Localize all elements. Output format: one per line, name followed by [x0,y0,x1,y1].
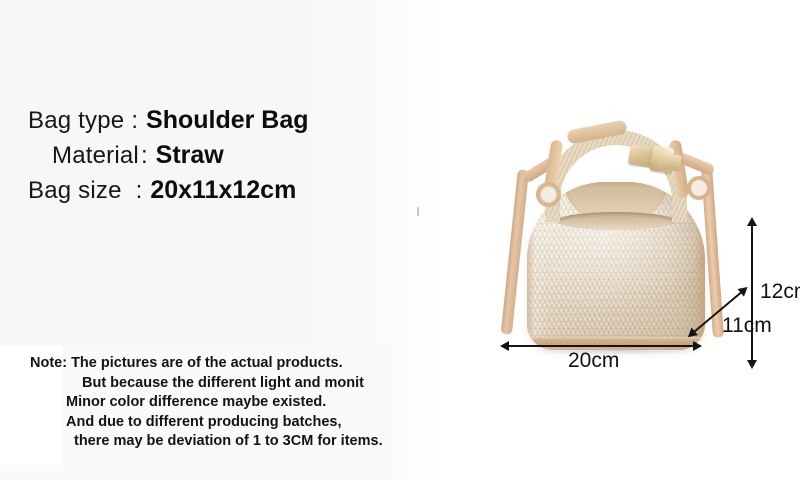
dimension-line-height [751,225,753,361]
arrow-up-icon [747,217,757,226]
image-artifact-speck [417,207,419,216]
dimension-label-width: 20cm [568,349,619,373]
spec-value-bag-size: 20x11x12cm [150,176,296,205]
spec-label-material: Material [52,142,139,170]
bag-handle-weave-texture [545,130,687,222]
spec-colon-bag-type: : [131,107,138,135]
note-line: Minor color difference maybe existed. [66,393,450,413]
product-photo: 20cm 12cm 11cm [470,95,800,385]
disclaimer-note: Note: The pictures are of the actual pro… [30,354,450,452]
straw-shoulder-bag [515,120,715,365]
note-line: there may be deviation of 1 to 3CM for i… [74,432,450,452]
dimension-label-depth: 11cm [722,314,772,338]
spec-row-bag-size: Bag size : 20x11x12cm [28,176,368,211]
leather-trim-left [527,212,535,350]
shoulder-strap-left [501,169,529,334]
product-detail-image: Bag type : Shoulder Bag Material : Straw… [0,0,800,480]
strap-ring-right [687,176,711,200]
spec-label-bag-size: Bag size [28,177,122,205]
arrow-diagonal-end-icon [738,283,751,296]
clasp-plate-right [662,153,682,171]
strap-ring-left [536,182,561,207]
spec-value-material: Straw [156,141,224,170]
arrow-left-icon [500,341,509,351]
arrow-down-icon [747,360,757,369]
spec-colon-material: : [141,142,148,170]
spec-colon-bag-size: : [136,177,143,205]
note-line: And due to different producing batches, [66,413,450,433]
specification-list: Bag type : Shoulder Bag Material : Straw… [28,106,368,211]
dimension-label-height: 12cm [760,280,800,304]
spec-value-bag-type: Shoulder Bag [146,106,309,135]
note-line: Note: The pictures are of the actual pro… [30,354,450,374]
dimension-line-width [508,345,694,347]
arrow-right-icon [693,341,702,351]
note-line: But because the different light and moni… [82,374,450,394]
spec-label-bag-type: Bag type [28,107,124,135]
spec-row-bag-type: Bag type : Shoulder Bag [28,106,368,141]
spec-row-material: Material : Straw [28,141,368,176]
